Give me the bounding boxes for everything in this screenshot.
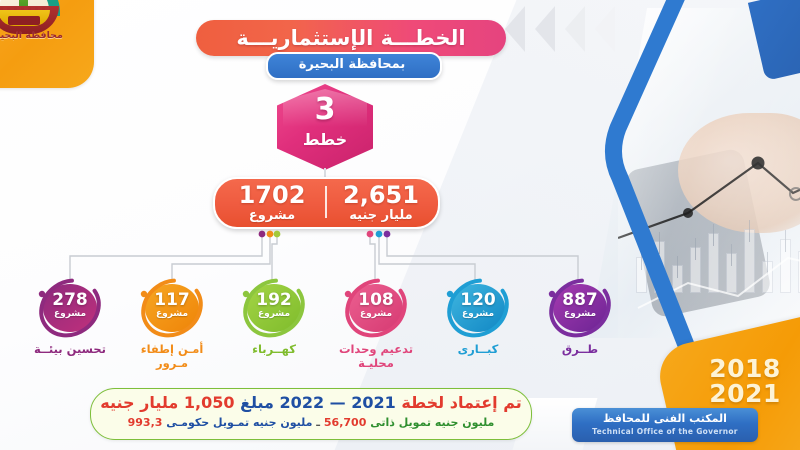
total-projects-value: 1702 [219, 182, 325, 208]
badge-ring: 278 مشروع [34, 277, 106, 339]
self-funding-label: مليون جنيه تمويل ذاتى [370, 416, 494, 429]
total-projects: 1702 مشروع [219, 182, 325, 223]
plans-count: 3 [277, 95, 373, 125]
banner-mid: مبلغ [240, 393, 274, 412]
badge-ring: 117 مشروع [136, 277, 208, 339]
sector-badge-environment[interactable]: 278 مشروع تحسين بيئــة [34, 277, 106, 339]
badge-value: 192 [238, 291, 310, 309]
year-range: 2018 2021 [690, 356, 800, 406]
badge-unit: مشروع [442, 309, 514, 319]
badge-unit: مشروع [544, 309, 616, 319]
banner-amount-unit: مليار جنيه [100, 393, 178, 412]
plans-label: خطط [277, 130, 373, 149]
office-name-arabic: المكتب الفنى للمحافظ [572, 412, 758, 425]
totals-divider [325, 186, 327, 218]
banner-separator: ـ [316, 416, 320, 429]
badge-unit: مشروع [340, 309, 412, 319]
office-name-english: Technical Office of the Governor [572, 427, 758, 436]
page-title: الخطـــة الإستثماريـــة [196, 26, 506, 50]
badge-unit: مشروع [136, 309, 208, 319]
approval-banner: تم إعتماد لخطة 2021 — 2022 مبلغ 1,050 مل… [90, 388, 532, 440]
plans-hexagon: 3 خطط [277, 84, 373, 170]
banner-period: 2021 — 2022 [280, 393, 396, 412]
badge-caption: تدعيم وحدات محليـة [328, 343, 424, 370]
chevron-icon [565, 6, 585, 52]
badge-caption: أمـن إطفاء مـرور [124, 343, 220, 370]
total-amount-value: 2,651 [328, 182, 434, 208]
badge-ring: 108 مشروع [340, 277, 412, 339]
gov-funding-amount: 993,3 [128, 416, 163, 429]
badge-value: 108 [340, 291, 412, 309]
logo-caption: محافظة البحيرة [0, 30, 72, 41]
chevron-icon [535, 6, 555, 52]
badge-value: 120 [442, 291, 514, 309]
badge-caption: كبــارى [430, 343, 526, 357]
banner-line-2: مليون جنيه تمويل ذاتى 56,700 ـ مليون جني… [91, 416, 531, 430]
sector-badge-electricity[interactable]: 192 مشروع كهــرباء [238, 277, 310, 339]
emblem-ribbon [8, 16, 40, 25]
governorate-logo: محافظة البحيرة [0, 0, 94, 88]
badge-value: 117 [136, 291, 208, 309]
year-from: 2018 [690, 356, 800, 381]
badge-caption: كهــرباء [226, 343, 322, 357]
badge-ring: 887 مشروع [544, 277, 616, 339]
sector-badge-roads[interactable]: 887 مشروع طــرق [544, 277, 616, 339]
badge-value: 887 [544, 291, 616, 309]
infographic-canvas: محافظة البحيرة [0, 0, 800, 450]
banner-amount: 1,050 [184, 393, 235, 412]
badge-caption: طــرق [532, 343, 628, 357]
banner-prefix: تم إعتماد لخطة [401, 393, 521, 412]
sector-badge-local-units[interactable]: 108 مشروع تدعيم وحدات محليـة [340, 277, 412, 339]
badge-ring: 120 مشروع [442, 277, 514, 339]
badge-unit: مشروع [34, 309, 106, 319]
subtitle-pill: بمحافظة البحيرة [266, 52, 442, 80]
badge-unit: مشروع [238, 309, 310, 319]
main-title-pill: الخطـــة الإستثماريـــة [196, 20, 506, 56]
badge-ring: 192 مشروع [238, 277, 310, 339]
self-funding-amount: 56,700 [324, 416, 366, 429]
badge-value: 278 [34, 291, 106, 309]
badge-caption: تحسين بيئــة [22, 343, 118, 357]
chevron-icon [505, 6, 525, 52]
sector-badge-security-fire-traffic[interactable]: 117 مشروع أمـن إطفاء مـرور [136, 277, 208, 339]
banner-line-1: تم إعتماد لخطة 2021 — 2022 مبلغ 1,050 مل… [91, 393, 531, 413]
total-projects-label: مشروع [219, 208, 325, 223]
technical-office-tab: المكتب الفنى للمحافظ Technical Office of… [572, 408, 758, 442]
page-subtitle: بمحافظة البحيرة [268, 57, 436, 72]
total-amount: 2,651 مليار جنيه [328, 182, 434, 223]
gov-funding-label: مليون جنيه تمـويل حكومـى [166, 416, 312, 429]
total-amount-label: مليار جنيه [328, 208, 434, 223]
totals-bar: 2,651 مليار جنيه 1702 مشروع [213, 177, 440, 229]
sector-badge-bridges[interactable]: 120 مشروع كبــارى [442, 277, 514, 339]
year-to: 2021 [690, 381, 800, 406]
